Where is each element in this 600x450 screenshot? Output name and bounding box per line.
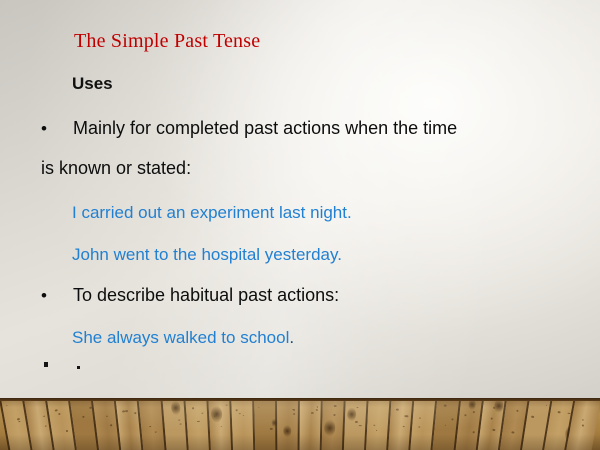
bullet-item-1-continuation: is known or stated:	[41, 158, 191, 179]
bullet-marker-icon: •	[41, 286, 73, 306]
example-sentence-3: She always walked to school.	[72, 328, 294, 348]
bullet-marker-empty-icon	[44, 362, 48, 367]
trailing-period	[77, 366, 80, 369]
wood-floor	[0, 398, 600, 450]
bullet-item-1-text: Mainly for completed past actions when t…	[73, 118, 457, 138]
floor-baseboard-edge	[0, 398, 600, 401]
example-sentence-3-text: She always walked to school	[72, 328, 289, 347]
slide-canvas: The Simple Past Tense Uses •Mainly for c…	[0, 0, 600, 450]
section-subheading: Uses	[72, 74, 113, 94]
bullet-item-2-text: To describe habitual past actions:	[73, 285, 339, 305]
example-sentence-3-period: .	[289, 328, 294, 347]
bullet-item-1: •Mainly for completed past actions when …	[41, 118, 457, 139]
example-sentence-2: John went to the hospital yesterday.	[72, 245, 342, 265]
page-title: The Simple Past Tense	[74, 30, 260, 53]
floor-planks	[0, 398, 600, 450]
bullet-item-2: •To describe habitual past actions:	[41, 285, 339, 306]
bullet-marker-icon: •	[41, 119, 73, 139]
example-sentence-1: I carried out an experiment last night.	[72, 203, 352, 223]
slide-content: The Simple Past Tense Uses •Mainly for c…	[0, 0, 600, 398]
